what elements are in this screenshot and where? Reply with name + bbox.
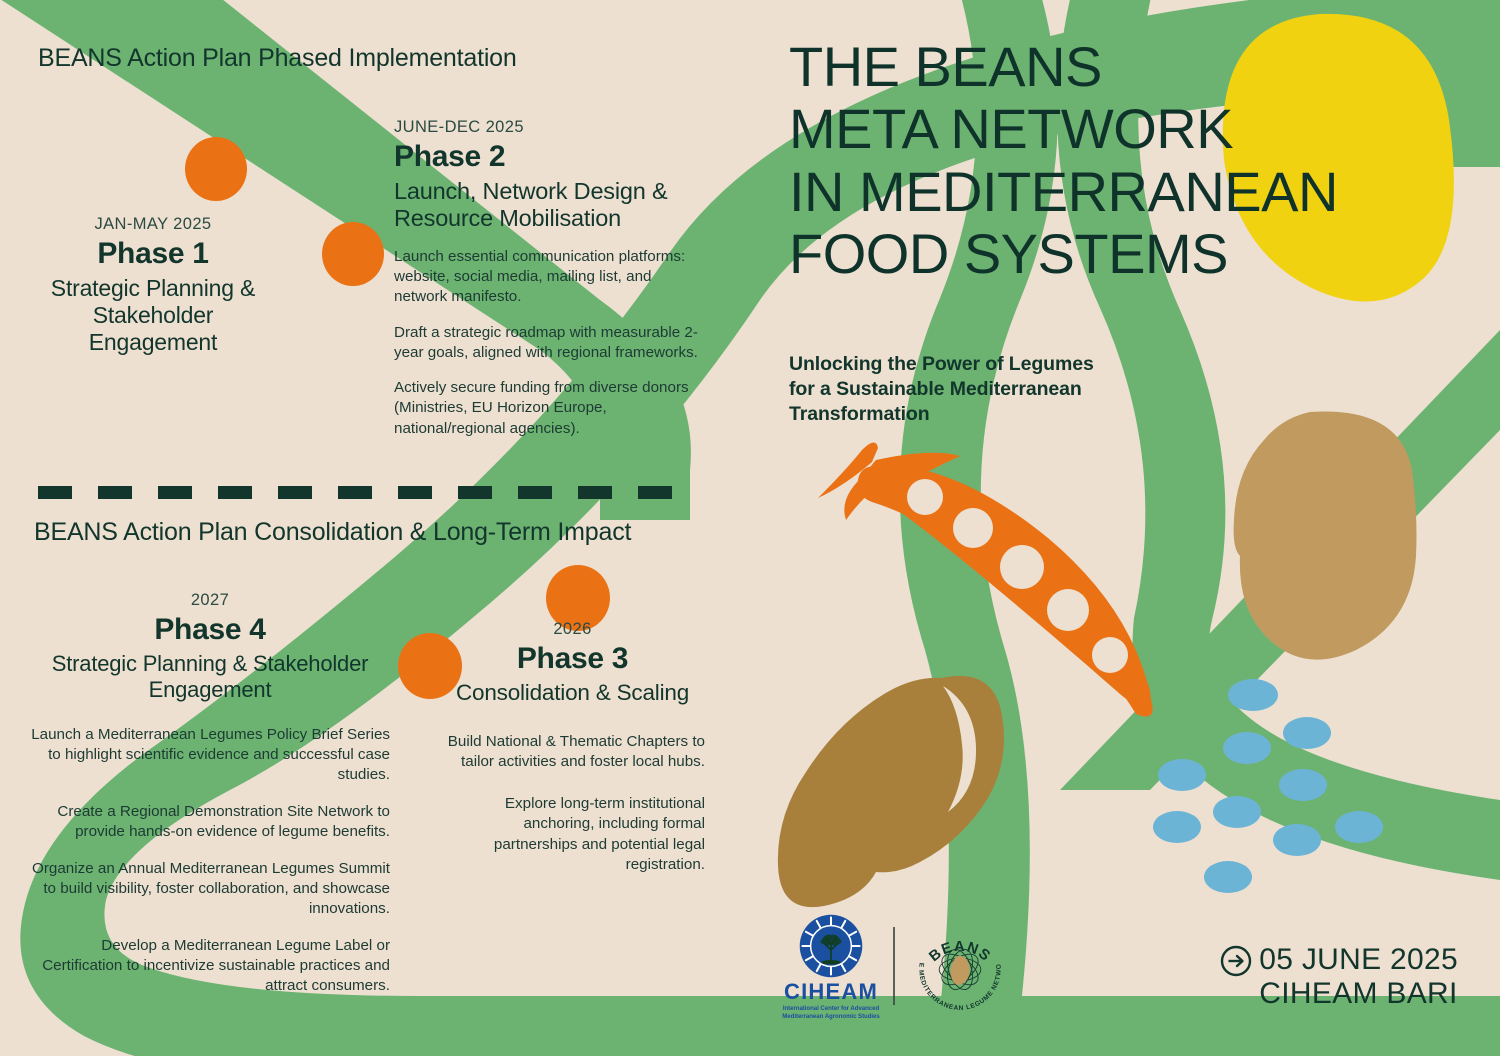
phase-4-bullet: Organize an Annual Mediterranean Legumes… — [30, 859, 390, 919]
page-title: THE BEANS META NETWORK IN MEDITERRANEAN … — [789, 36, 1338, 286]
phase-4-year: 2027 — [30, 591, 390, 610]
ciheam-tagline-line-1: International Center for Advanced — [782, 1005, 880, 1013]
ciheam-wordmark: CIHEAM — [782, 981, 880, 1003]
phase-2-body: Launch essential communication platforms… — [394, 247, 706, 439]
ciheam-emblem-icon — [797, 912, 865, 980]
subtitle-line-3: Transformation — [789, 402, 1094, 427]
phase-1-number: Phase 1 — [38, 237, 268, 271]
page-subtitle: Unlocking the Power of Legumes for a Sus… — [789, 352, 1094, 427]
phase-2-bullet: Launch essential communication platforms… — [394, 247, 706, 308]
section-title-phased-implementation: BEANS Action Plan Phased Implementation — [38, 44, 517, 73]
ciheam-tagline: International Center for Advanced Medite… — [782, 1005, 880, 1020]
event-date-venue: 05 JUNE 2025 CIHEAM BARI — [1259, 943, 1458, 1011]
phase-3-name: Consolidation & Scaling — [440, 680, 705, 706]
phase-1-year: JAN-MAY 2025 — [38, 215, 268, 234]
subtitle-line-1: Unlocking the Power of Legumes — [789, 352, 1094, 377]
phase-3-bullet: Build National & Thematic Chapters to ta… — [440, 732, 705, 772]
divider-dash — [578, 486, 612, 499]
phase-2-bullet: Actively secure funding from diverse don… — [394, 378, 706, 439]
title-line-4: FOOD SYSTEMS — [789, 223, 1338, 285]
divider-dash — [398, 486, 432, 499]
divider-dash — [158, 486, 192, 499]
event-details: 05 JUNE 2025 CIHEAM BARI — [1220, 943, 1458, 1011]
ciheam-tagline-line-2: Mediterranean Agronomic Studies — [782, 1013, 880, 1021]
phase-3-year: 2026 — [440, 620, 705, 639]
divider-dash — [38, 486, 72, 499]
phase-2-block: JUNE-DEC 2025 Phase 2 Launch, Network De… — [394, 118, 706, 439]
divider-dash — [458, 486, 492, 499]
phase-2-bullet: Draft a strategic roadmap with measurabl… — [394, 323, 706, 363]
dashed-divider — [38, 486, 706, 499]
arrow-right-circle-icon — [1220, 945, 1252, 977]
phase-4-bullet: Develop a Mediterranean Legume Label or … — [30, 936, 390, 996]
phase-2-number: Phase 2 — [394, 140, 706, 174]
phase-3-bullet: Explore long-term institutional anchorin… — [440, 794, 705, 875]
divider-dash — [278, 486, 312, 499]
event-date: 05 JUNE 2025 — [1259, 943, 1458, 977]
divider-dash — [98, 486, 132, 499]
phase-4-number: Phase 4 — [30, 613, 390, 647]
divider-dash — [338, 486, 372, 499]
title-line-2: META NETWORK — [789, 98, 1338, 160]
phase-4-bullet: Create a Regional Demonstration Site Net… — [30, 802, 390, 842]
phase-3-body: Build National & Thematic Chapters to ta… — [440, 732, 705, 875]
divider-dash — [518, 486, 552, 499]
logo-separator — [893, 927, 895, 1005]
phase-4-body: Launch a Mediterranean Legumes Policy Br… — [30, 725, 390, 997]
divider-dash — [218, 486, 252, 499]
phase-3-block: 2026 Phase 3 Consolidation & Scaling Bui… — [440, 620, 705, 897]
phase-4-name: Strategic Planning & Stakeholder Engagem… — [30, 651, 390, 703]
phase-4-bullet: Launch a Mediterranean Legumes Policy Br… — [30, 725, 390, 785]
poster-canvas: BEANS Action Plan Phased Implementation … — [0, 0, 1500, 1056]
title-line-3: IN MEDITERRANEAN — [789, 161, 1338, 223]
title-line-1: THE BEANS — [789, 36, 1338, 98]
divider-dash — [638, 486, 672, 499]
phase-1-block: JAN-MAY 2025 Phase 1 Strategic Planning … — [38, 215, 268, 356]
phase-3-number: Phase 3 — [440, 642, 705, 676]
phase-2-name: Launch, Network Design & Resource Mobili… — [394, 178, 706, 233]
phase-2-year: JUNE-DEC 2025 — [394, 118, 706, 137]
subtitle-line-2: for a Sustainable Mediterranean — [789, 377, 1094, 402]
ciheam-logo: CIHEAM International Center for Advanced… — [782, 912, 880, 1020]
event-venue: CIHEAM BARI — [1259, 977, 1458, 1011]
section-title-consolidation: BEANS Action Plan Consolidation & Long-T… — [34, 518, 631, 547]
phase-1-name: Strategic Planning & Stakeholder Engagem… — [38, 275, 268, 356]
logo-row: CIHEAM International Center for Advanced… — [782, 912, 1012, 1020]
phase-4-block: 2027 Phase 4 Strategic Planning & Stakeh… — [30, 591, 390, 1013]
beans-logo: BEANS THE MEDITERRANEAN LEGUME NETWORK — [908, 914, 1012, 1018]
